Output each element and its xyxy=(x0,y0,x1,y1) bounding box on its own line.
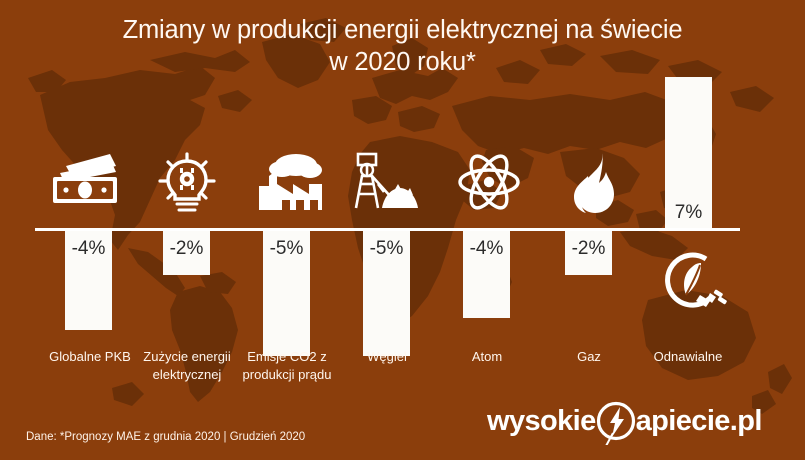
bar-value-label: -4% xyxy=(463,238,510,260)
site-logo[interactable]: wysokie apiecie.pl xyxy=(487,398,762,444)
logo-text-prefix: wysokie xyxy=(487,405,596,438)
zero-axis-line xyxy=(35,228,740,231)
bar-value-label: -5% xyxy=(263,238,310,260)
bar-6: 7% xyxy=(665,77,712,229)
bar-value-label: 7% xyxy=(665,202,712,224)
bar-value-label: -2% xyxy=(163,238,210,260)
bar-4: -4% xyxy=(463,229,510,318)
category-label-line-2: produkcji prądu xyxy=(216,366,358,384)
atom-icon xyxy=(457,150,521,214)
chart-title-line-1: Zmiany w produkcji energii elektrycznej … xyxy=(0,14,805,46)
category-label-6: Odnawialne xyxy=(618,348,758,366)
banknotes-icon xyxy=(50,152,122,208)
bar-2: -5% xyxy=(263,229,310,356)
category-label-line-1: Odnawialne xyxy=(618,348,758,366)
infographic-canvas: Zmiany w produkcji energii elektrycznej … xyxy=(0,0,805,460)
bar-5: -2% xyxy=(565,229,612,275)
chart-title: Zmiany w produkcji energii elektrycznej … xyxy=(0,14,805,78)
factory-smoke-icon xyxy=(252,152,324,214)
bar-value-label: -4% xyxy=(65,238,112,260)
lightning-bolt-circle-icon xyxy=(593,399,639,445)
bar-value-label: -2% xyxy=(565,238,612,260)
lightbulb-icon xyxy=(155,152,219,216)
bar-0: -4% xyxy=(65,229,112,330)
chart-title-line-2: w 2020 roku* xyxy=(0,46,805,78)
bar-1: -2% xyxy=(163,229,210,275)
bar-value-label: -5% xyxy=(363,238,410,260)
coal-mine-tower-icon xyxy=(348,150,424,212)
source-note: Dane: *Prognozy MAE z grudnia 2020 | Gru… xyxy=(26,431,305,443)
logo-text-suffix: apiecie.pl xyxy=(636,405,762,438)
leaf-plug-icon xyxy=(660,249,730,315)
flame-icon xyxy=(568,150,620,214)
bar-3: -5% xyxy=(363,229,410,356)
